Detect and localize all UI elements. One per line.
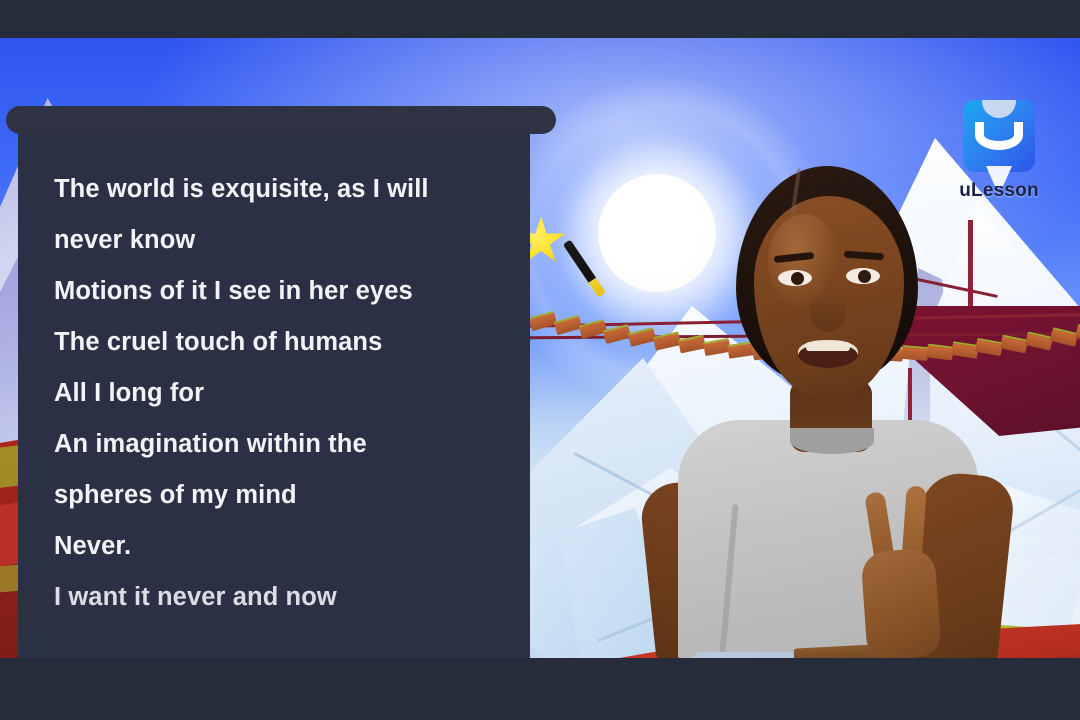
rope-bridge-plank (529, 311, 558, 332)
poem-line: Motions of it I see in her eyes (54, 266, 514, 317)
logo-smile-curve (975, 122, 1023, 150)
presenter-eye-right (846, 268, 880, 284)
screen-root: uLesson The world is exquisite, as I wil… (0, 0, 1080, 720)
slide-panel-handle[interactable] (6, 106, 556, 134)
poem-line: The world is exquisite, as I will (54, 164, 514, 215)
video-frame: uLesson The world is exquisite, as I wil… (0, 38, 1080, 658)
presenter-pupil-left (791, 272, 804, 285)
rope-bridge-plank (553, 315, 582, 336)
presenter-hand-peace-gesture (860, 548, 941, 658)
poem-line: All I long for (54, 368, 514, 419)
poem-line: I want it never and now (54, 572, 514, 623)
presenter-nose (810, 292, 846, 332)
magic-wand-handle (563, 239, 606, 297)
poem-line: spheres of my mind (54, 470, 514, 521)
slide-panel: The world is exquisite, as I will never … (18, 124, 530, 658)
presenter-pupil-right (858, 270, 871, 283)
presenter-teeth (806, 342, 850, 351)
poem-line: never know (54, 215, 514, 266)
presenter-shirt-collar (790, 428, 874, 454)
rope-bridge-plank (1025, 331, 1053, 350)
poem-line: Never. (54, 521, 514, 572)
ulesson-logo: uLesson (955, 100, 1043, 202)
logo-notch (982, 100, 1016, 118)
presenter-figure (618, 144, 1018, 658)
poem-line: The cruel touch of humans (54, 317, 514, 368)
presenter-eye-left (778, 270, 812, 286)
poem-line: An imagination within the (54, 419, 514, 470)
book-smile-icon (963, 100, 1035, 172)
poem-text-block: The world is exquisite, as I will never … (54, 164, 514, 623)
rope-bridge-plank (1049, 327, 1078, 347)
